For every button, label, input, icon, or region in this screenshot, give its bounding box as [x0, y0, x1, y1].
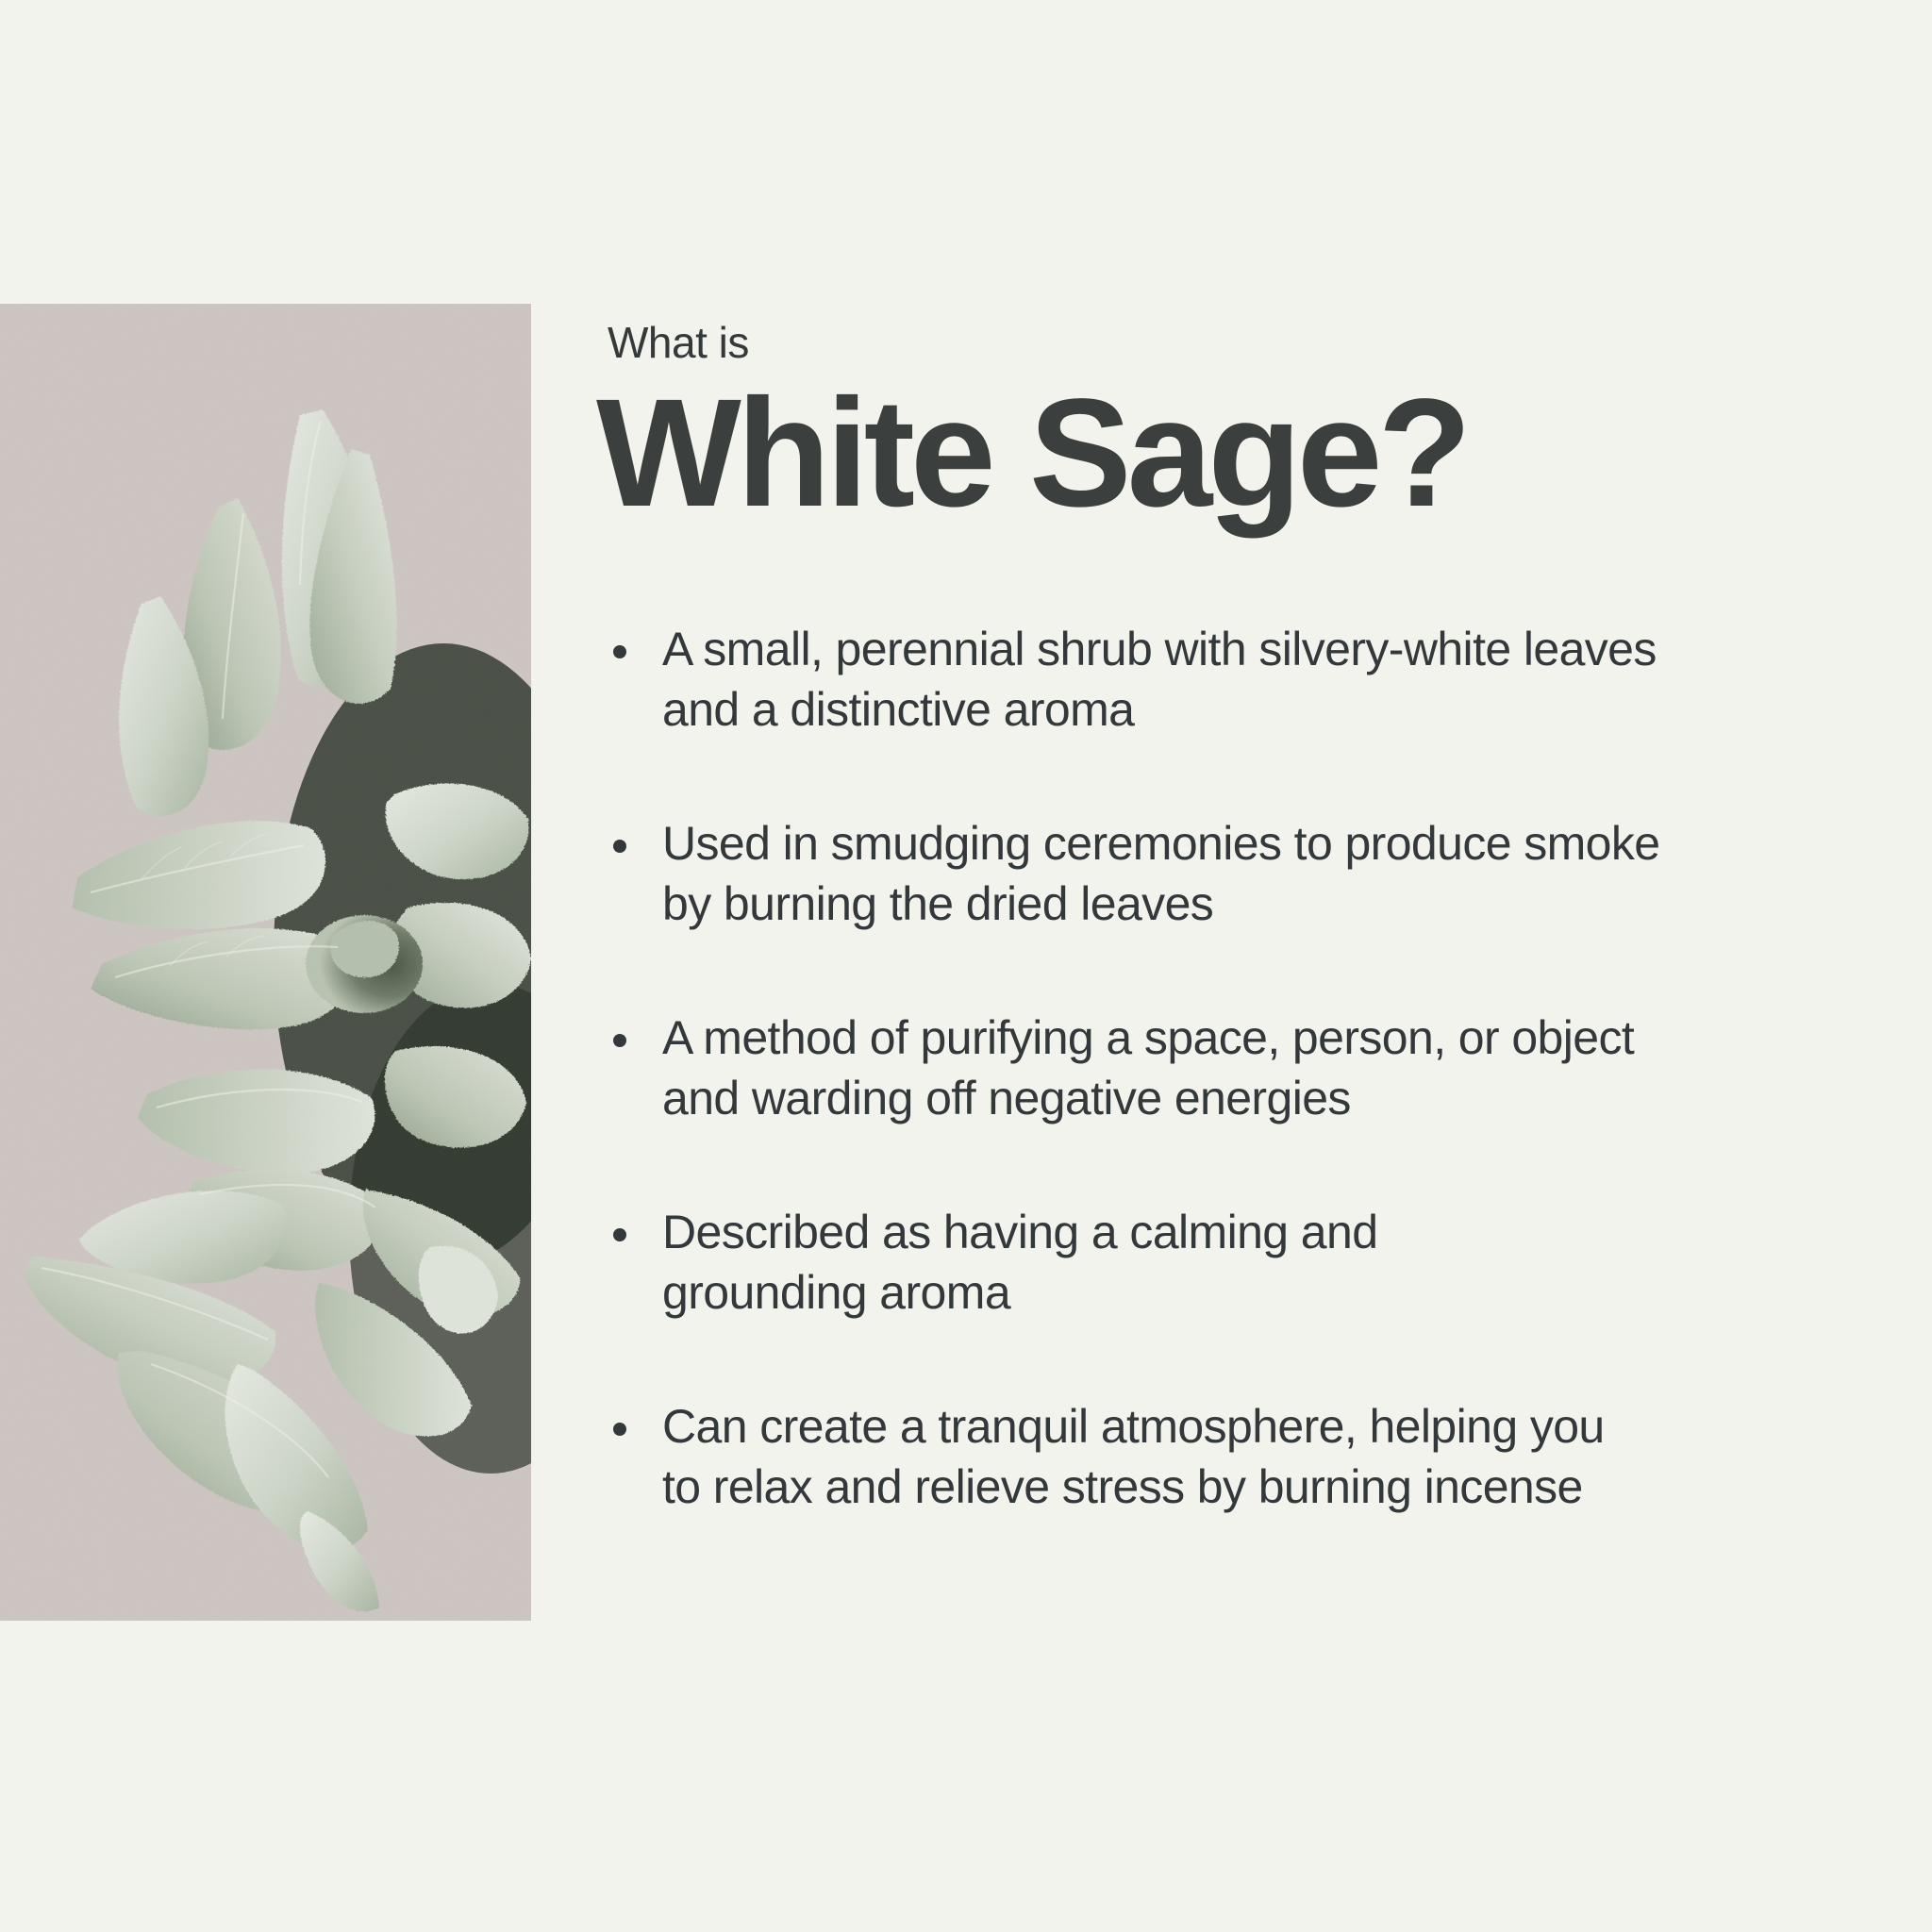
page-title: White Sage?: [596, 377, 1845, 528]
bullet-dot-icon: [613, 1228, 626, 1241]
bullet-line: to relax and relieve stress by burning i…: [662, 1457, 1845, 1517]
list-item: A method of purifying a space, person, o…: [600, 1008, 1845, 1128]
bullet-dot-icon: [613, 1423, 626, 1436]
list-item: A small, perennial shrub with silvery-wh…: [600, 619, 1845, 740]
bullet-line: Used in smudging ceremonies to produce s…: [662, 813, 1845, 874]
content-column: What is White Sage? A small, perennial s…: [600, 321, 1845, 1517]
bullet-dot-icon: [613, 645, 626, 658]
eyebrow-text: What is: [608, 321, 1845, 364]
bullet-line: A method of purifying a space, person, o…: [662, 1008, 1845, 1068]
bullet-dot-icon: [613, 840, 626, 853]
bullet-line: and a distinctive aroma: [662, 679, 1845, 740]
bullet-line: Described as having a calming and: [662, 1202, 1845, 1262]
sage-plant-image: [0, 304, 531, 1621]
list-item: Described as having a calming and ground…: [600, 1202, 1845, 1323]
bullet-dot-icon: [613, 1034, 626, 1047]
bullet-line: A small, perennial shrub with silvery-wh…: [662, 619, 1845, 679]
poster-canvas: What is White Sage? A small, perennial s…: [0, 0, 1932, 1932]
sage-plant-illustration: [0, 304, 531, 1621]
list-item: Used in smudging ceremonies to produce s…: [600, 813, 1845, 934]
list-item: Can create a tranquil atmosphere, helpin…: [600, 1396, 1845, 1517]
bullet-line: and warding off negative energies: [662, 1068, 1845, 1128]
feature-bullet-list: A small, perennial shrub with silvery-wh…: [600, 619, 1845, 1517]
bullet-line: by burning the dried leaves: [662, 874, 1845, 934]
bullet-line: grounding aroma: [662, 1262, 1845, 1323]
bullet-line: Can create a tranquil atmosphere, helpin…: [662, 1396, 1845, 1457]
